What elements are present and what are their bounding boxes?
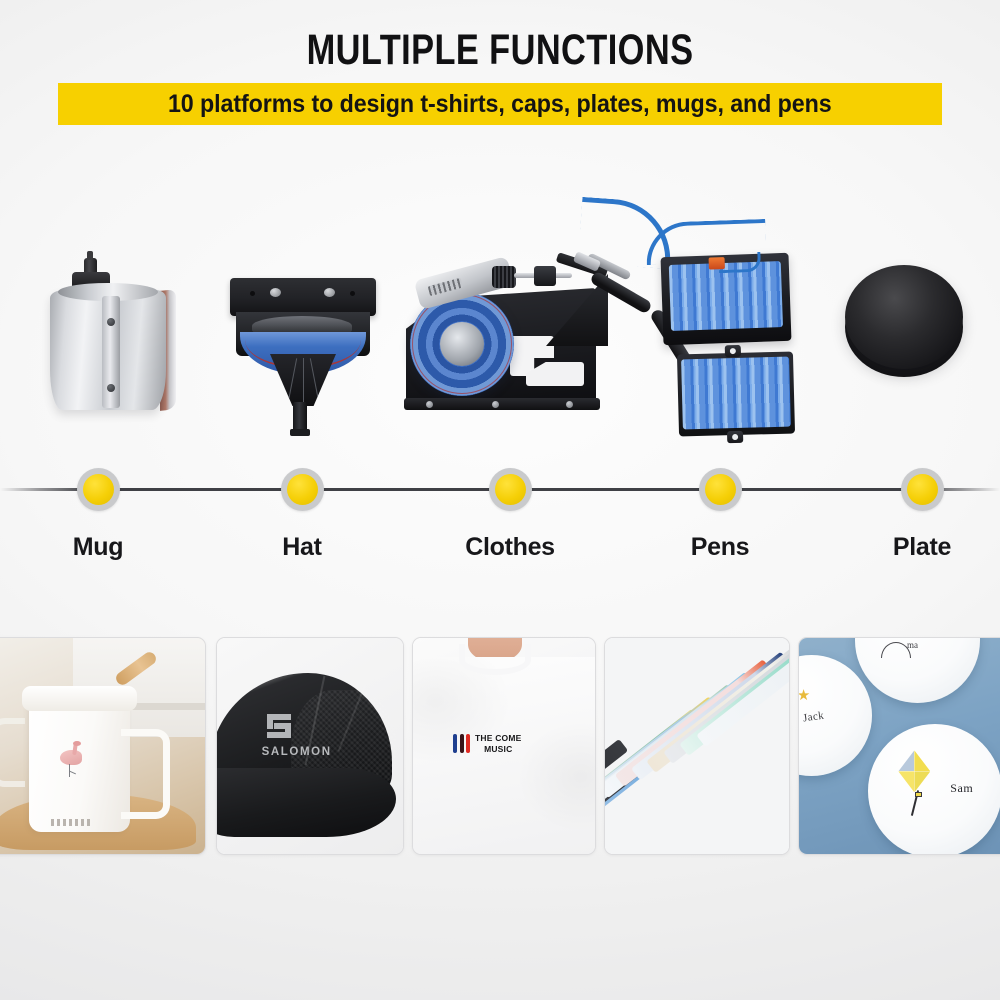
timeline-node-plate[interactable]: Plate <box>842 462 1000 562</box>
pen-plate-lower <box>677 351 795 436</box>
star-icon: ★ <box>798 686 810 704</box>
timeline-dot <box>77 468 120 511</box>
dot-fill <box>705 474 736 505</box>
kite-quadrant <box>914 750 930 771</box>
cap-photo: SALOMON <box>217 638 403 854</box>
product-images-row <box>0 195 1000 460</box>
screw-icon <box>107 384 115 392</box>
print-signature <box>51 819 91 826</box>
gallery-card-tshirt[interactable]: THE COME MUSIC <box>412 637 596 855</box>
cone-rib <box>303 358 304 402</box>
flamingo-head <box>73 741 81 746</box>
plate-main <box>868 724 1000 855</box>
flamingo-print-icon <box>58 742 84 776</box>
print-bar <box>453 734 457 753</box>
plate-doodle-text: ma <box>907 640 918 650</box>
timeline-label: Plate <box>842 533 1000 562</box>
plate-silicone-disc <box>845 265 963 369</box>
mug-lid <box>22 686 136 712</box>
cap-brand-text: SALOMON <box>262 746 332 758</box>
subtitle-banner: 10 platforms to design t-shirts, caps, p… <box>58 83 942 125</box>
timeline-label: Hat <box>222 533 382 562</box>
gallery-card-mug[interactable] <box>0 637 206 855</box>
dot-fill <box>495 474 526 505</box>
timeline-label: Pens <box>640 533 800 562</box>
timeline-node-mug[interactable]: Mug <box>18 462 178 562</box>
second-mug-handle <box>0 718 25 787</box>
dot-fill <box>83 474 114 505</box>
cone-rib <box>310 358 319 401</box>
print-bars-icon <box>453 734 470 753</box>
timeline-label: Mug <box>18 533 178 562</box>
gallery-row: SALOMON THE COME MUSIC <box>0 637 1000 857</box>
kite-bow <box>915 792 922 797</box>
kite-drawing-icon <box>898 750 930 792</box>
tshirt-photo: THE COME MUSIC <box>413 638 595 854</box>
flamingo-body <box>60 750 82 765</box>
cone-rib <box>288 358 297 401</box>
mount-tab <box>725 345 741 357</box>
timeline-node-hat[interactable]: Hat <box>222 462 382 562</box>
rod-block <box>534 266 556 286</box>
adjust-knob <box>492 266 516 288</box>
salomon-logo-icon <box>267 714 291 738</box>
hat-support-cone <box>270 354 336 406</box>
logo-stroke <box>267 732 286 738</box>
logo-stroke <box>267 714 273 729</box>
print-bar <box>460 734 464 753</box>
mug-press-attachment-image <box>42 260 192 425</box>
timeline-dot <box>281 468 324 511</box>
mug-handle <box>121 729 169 820</box>
shirt-collar <box>459 644 532 674</box>
coil-red-stripe <box>412 294 512 394</box>
dot-fill <box>907 474 938 505</box>
screw-icon <box>492 401 499 408</box>
print-bar <box>466 734 470 753</box>
screw-hole-icon <box>250 291 255 296</box>
print-text: THE COME MUSIC <box>475 733 521 754</box>
pens-photo <box>605 638 789 854</box>
pen-silicone-ribs <box>681 357 791 430</box>
kite-quadrant <box>898 750 914 771</box>
plate-press-attachment-image <box>845 265 965 395</box>
timeline-dot <box>489 468 532 511</box>
hat-press-attachment-image <box>222 278 382 428</box>
bolt-icon <box>270 288 281 297</box>
hat-stem <box>293 402 307 436</box>
cap-brim <box>216 768 396 837</box>
press-base <box>404 398 600 410</box>
pen-plate-upper <box>661 253 792 345</box>
plates-photo: ma ★ Jack Sam <box>799 638 1000 854</box>
hat-mount-plate <box>230 278 376 316</box>
timeline: Mug Hat Clothes Pens Plate <box>0 462 1000 572</box>
screw-hole-icon <box>350 291 355 296</box>
page-title: MULTIPLE FUNCTIONS <box>100 26 900 75</box>
clothes-press-machine-image <box>398 240 648 425</box>
mount-tab <box>727 431 743 443</box>
screw-icon <box>107 318 115 326</box>
timeline-dot <box>901 468 944 511</box>
gallery-card-pens[interactable] <box>604 637 790 855</box>
kite-quadrant <box>898 771 914 792</box>
bolt-icon <box>324 288 335 297</box>
pen-press-attachment-image <box>658 225 828 440</box>
timeline-node-pens[interactable]: Pens <box>640 462 800 562</box>
header: MULTIPLE FUNCTIONS 10 platforms to desig… <box>0 0 1000 150</box>
dot-fill <box>287 474 318 505</box>
subtitle-text: 10 platforms to design t-shirts, caps, p… <box>168 90 832 119</box>
timeline-dot <box>699 468 742 511</box>
mug-hinge <box>102 296 120 408</box>
timeline-node-clothes[interactable]: Clothes <box>430 462 590 562</box>
screw-icon <box>566 401 573 408</box>
chest-print: THE COME MUSIC <box>453 733 521 754</box>
gallery-card-plates[interactable]: ma ★ Jack Sam <box>798 637 1000 855</box>
gallery-card-cap[interactable]: SALOMON <box>216 637 404 855</box>
plate-name-sam: Sam <box>950 781 973 796</box>
timeline-label: Clothes <box>430 533 590 562</box>
mug-photo <box>0 638 205 854</box>
print-line-1: THE COME <box>475 733 521 743</box>
print-line-2: MUSIC <box>484 744 512 754</box>
screw-icon <box>426 401 433 408</box>
shirt-fabric <box>413 657 595 855</box>
